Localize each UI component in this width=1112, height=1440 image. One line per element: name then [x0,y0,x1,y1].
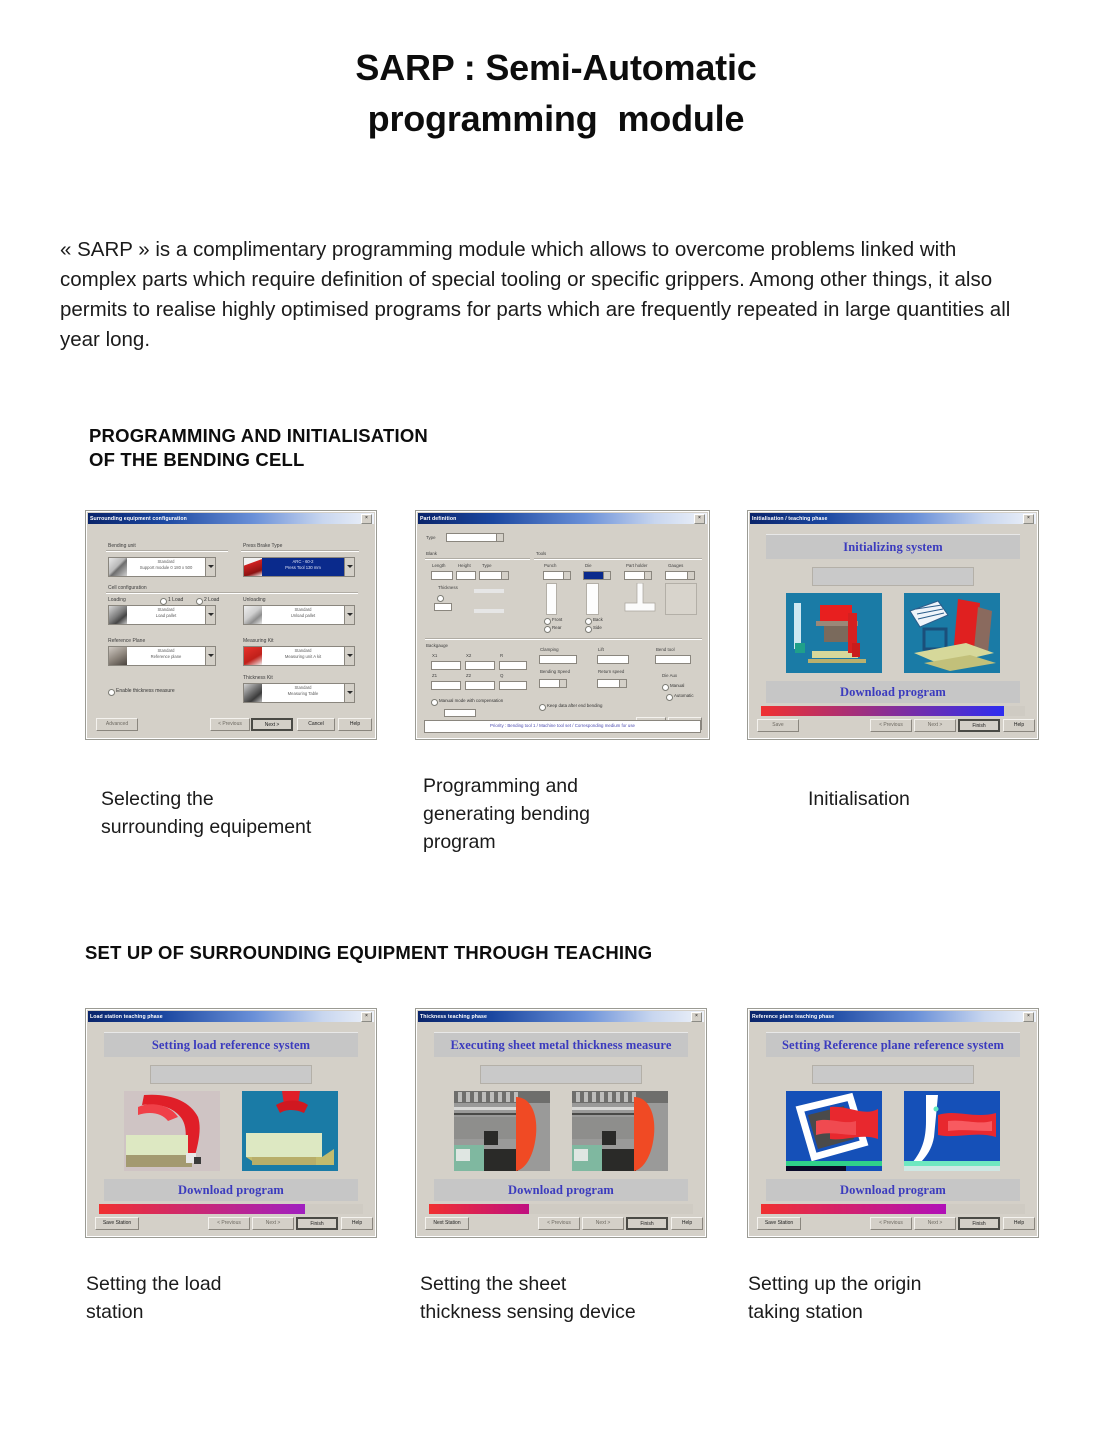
window-title: Part definition [420,516,694,522]
button-next[interactable]: Next > [914,1217,956,1230]
label-r: R [500,653,503,658]
chevron-down-icon[interactable] [344,558,354,576]
input-height[interactable] [456,571,476,580]
button-help[interactable]: Help [1003,1217,1035,1230]
dialog-button-row: Save Station < Previous Next > Finish He… [757,1217,1029,1230]
intro-paragraph: « SARP » is a complimentary programming … [60,235,1022,356]
input-return-speed[interactable] [597,679,627,688]
combo-value: ARC - 60-2 Press Tool 130 mm [262,558,344,576]
reference-plane-render-right [904,1091,1000,1171]
combo-value: Standard Load pallet [127,606,205,624]
dialog-button-row: Next Station < Previous Next > Finish He… [425,1217,697,1230]
label-type-blank: Type [482,563,492,568]
button-help[interactable]: Help [338,718,372,731]
thickness-device-photo-left [454,1091,550,1171]
close-icon[interactable]: × [691,1012,702,1022]
wizard-status-text: Download program [840,685,946,700]
label-clamping: Clamping [540,647,559,652]
combo-reference-plane[interactable]: Standard Reference plane [108,646,216,666]
group-divider [534,558,702,559]
combo-gauges[interactable] [665,571,695,580]
input-lift[interactable] [597,655,629,664]
button-cancel[interactable]: Cancel [297,718,335,731]
combo-value: Standard Reference plane [127,647,205,665]
dialog-body: Setting Reference plane reference system [750,1023,1036,1235]
progress-bar [429,1204,693,1214]
input-bend-tool[interactable] [655,655,691,664]
label-bend-tool: Bend tool [656,647,675,652]
combo-punch[interactable] [543,571,571,580]
dialog-body: Setting load reference system [88,1023,374,1235]
label-type: Type [426,535,436,540]
combo-bending-unit[interactable]: Standard Support module 0 180 x 500 [108,557,216,577]
page-title-line1: SARP : Semi-Automatic [355,47,756,88]
caption-initialisation: Initialisation [808,786,1058,814]
dimension-indicator [474,589,504,593]
button-save-station[interactable]: Save Station [95,1217,139,1230]
part-holder-profile-icon [624,583,656,613]
wizard-banner: Initializing system [766,534,1020,559]
button-help[interactable]: Help [671,1217,703,1230]
radio-manual[interactable]: Manual [662,683,684,688]
combo-measuring-kit[interactable]: Standard Measuring unit A kit [243,646,355,666]
combo-type[interactable] [446,533,504,542]
group-label-backgauge: Backgauge [426,643,448,648]
combo-thickness-kit[interactable]: Standard Measuring Table [243,683,355,703]
dialog-thickness-teaching[interactable]: Thickness teaching phase × Executing she… [415,1008,707,1238]
reference-plane-right-icon [904,1091,1000,1171]
label-z1: Z1 [432,673,437,678]
punch-profile-icon [546,583,557,615]
cell-overview-render [786,593,882,673]
button-previous[interactable]: < Previous [210,718,250,731]
dialog-button-row: Save < Previous Next > Finish Help [757,719,1029,732]
input-q[interactable] [499,681,527,690]
button-save-station[interactable]: Save Station [757,1217,801,1230]
input-x1[interactable] [431,661,461,670]
group-label-measuring-kit: Measuring Kit [243,638,274,644]
wizard-status-text: Download program [840,1183,946,1198]
group-label-die-aux: Die Aux [662,673,677,678]
window-title: Initialisation / teaching phase [752,516,1023,522]
group-label-blank: Blank [426,551,437,556]
reference-plane-left-icon [786,1091,882,1171]
checkbox-enable-thickness-measure[interactable]: Enable thickness measure [108,688,175,694]
input-thickness[interactable] [434,603,452,611]
button-help[interactable]: Help [1003,719,1035,732]
thumbnail-icon [244,647,262,665]
titlebar[interactable]: Thickness teaching phase × [418,1011,704,1022]
thumbnail-icon [109,606,127,624]
combo-value: Standard Unload pallet [262,606,344,624]
combo-value: Standard Measuring unit A kit [262,647,344,665]
wizard-message-field [150,1065,312,1084]
wizard-status-text: Download program [508,1183,614,1198]
section-heading-teaching: SET UP OF SURROUNDING EQUIPMENT THROUGH … [85,941,985,965]
chevron-down-icon[interactable] [344,684,354,702]
button-next-station[interactable]: Next Station [425,1217,469,1230]
button-previous[interactable]: < Previous [870,719,912,732]
thumbnail-icon [244,558,262,576]
radio-thickness-custom[interactable] [437,594,446,599]
chevron-down-icon[interactable] [344,647,354,665]
window-title: Thickness teaching phase [420,1014,691,1020]
button-next[interactable]: Next > [252,1217,294,1230]
group-divider [106,592,358,593]
input-length[interactable] [431,571,453,580]
page-title-line2a: programming [368,98,598,139]
input-clamping[interactable] [539,655,577,664]
combo-loading[interactable]: Standard Load pallet [108,605,216,625]
chevron-down-icon[interactable] [205,558,215,576]
dialog-reference-plane-teaching[interactable]: Reference plane teaching phase × Setting… [747,1008,1039,1238]
gauge-preview [665,583,697,615]
sheet-stack-render [904,593,1000,673]
wizard-banner: Setting load reference system [104,1032,358,1057]
wizard-status-banner: Download program [434,1179,688,1201]
titlebar[interactable]: Initialisation / teaching phase × [750,513,1036,524]
sheet-stack-render-icon [904,593,1000,673]
progress-bar [761,706,1025,716]
t-shape-icon [624,583,656,613]
label-x1: X1 [432,653,437,658]
button-previous[interactable]: < Previous [538,1217,580,1230]
radio-back[interactable]: Back [585,617,603,622]
input-z1[interactable] [431,681,461,690]
dimension-indicator [474,609,504,613]
page-title: SARP : Semi-Automatic programmingmodule [0,42,1112,144]
dialog-body: Type Blank Length Height Type Thickness … [418,525,707,737]
chevron-down-icon[interactable] [205,647,215,665]
chevron-down-icon[interactable] [205,606,215,624]
radio-automatic[interactable]: Automatic [666,693,694,698]
dialog-button-row: Save Station < Previous Next > Finish He… [95,1217,367,1230]
input-z2[interactable] [465,681,495,690]
close-icon[interactable]: × [361,514,372,524]
combo-value: Standard Support module 0 180 x 500 [127,558,205,576]
progress-bar-fill [99,1204,305,1214]
label-return-speed: Return speed [598,669,624,674]
button-next[interactable]: Next > [582,1217,624,1230]
thumbnail-icon [109,647,127,665]
checkbox-manual-compensation[interactable]: Manual mode with compensation [431,698,503,703]
titlebar[interactable]: Load station teaching phase × [88,1011,374,1022]
group-label-thickness-kit: Thickness Kit [243,675,273,681]
section-heading-programming: PROGRAMMING AND INITIALISATION OF THE BE… [89,424,689,473]
page-title-line2b: module [618,98,745,139]
close-icon[interactable]: × [694,514,705,524]
thickness-photo-left-icon [454,1091,550,1171]
button-advanced[interactable]: Advanced [96,718,138,731]
progress-bar [99,1204,363,1214]
close-icon[interactable]: × [1023,1012,1034,1022]
window-title: Surrounding equipment configuration [90,516,361,522]
button-previous[interactable]: < Previous [870,1217,912,1230]
group-label-cell-configuration: Cell configuration [108,585,147,591]
group-label-bending-unit: Bending unit [108,543,136,549]
wizard-status-banner: Download program [766,681,1020,703]
button-next[interactable]: Next > [914,719,956,732]
wizard-banner: Executing sheet metal thickness measure [434,1032,688,1057]
wizard-status-banner: Download program [104,1179,358,1201]
label-part-holder: Part holder [626,563,647,568]
input-r[interactable] [499,661,527,670]
wizard-banner-text: Executing sheet metal thickness measure [450,1038,671,1053]
status-bar: Priority : Bending tool 1 / Machine tool… [424,720,701,733]
button-previous[interactable]: < Previous [208,1217,250,1230]
thumbnail-icon [244,684,262,702]
close-icon[interactable]: × [1023,514,1034,524]
progress-bar [761,1204,1025,1214]
combo-unloading[interactable]: Standard Unload pallet [243,605,355,625]
die-profile-icon [586,583,599,615]
radio-side[interactable]: Side [585,625,602,630]
thumbnail-icon [109,558,127,576]
input-bending-speed[interactable] [539,679,567,688]
load-station-render-right [242,1091,338,1171]
button-finish[interactable]: Finish [626,1217,668,1230]
button-finish[interactable]: Finish [958,1217,1000,1230]
group-divider [241,550,359,551]
label-punch: Punch [544,563,556,568]
button-finish[interactable]: Finish [296,1217,338,1230]
combo-press-brake-type[interactable]: ARC - 60-2 Press Tool 130 mm [243,557,355,577]
label-z2: Z2 [466,673,471,678]
wizard-status-text: Download program [178,1183,284,1198]
checkbox-keep-data[interactable]: Keep data after end bending [539,703,602,708]
section1-heading-line1: PROGRAMMING AND INITIALISATION [89,425,428,446]
dialog-body: Executing sheet metal thickness measure [418,1023,704,1235]
label-x2: X2 [466,653,471,658]
wizard-banner-text: Initializing system [843,540,942,555]
wizard-banner-text: Setting load reference system [152,1038,310,1053]
wizard-banner-text: Setting Reference plane reference system [782,1038,1004,1053]
radio-two-load[interactable]: 2 Load [196,597,219,603]
group-divider [425,558,530,559]
label-bending-speed: Bending Speed [540,669,570,674]
label-gauges: Gauges [668,563,683,568]
button-save[interactable]: Save [757,719,799,732]
titlebar[interactable]: Surrounding equipment configuration × [88,513,374,524]
wizard-picture-row [766,593,1020,675]
caption-origin-station: Setting up the origin taking station [748,1271,1048,1327]
close-icon[interactable]: × [361,1012,372,1022]
progress-bar-fill [761,706,1004,716]
progress-bar-fill [429,1204,529,1214]
combo-die[interactable] [583,571,611,580]
load-station-render-left [124,1091,220,1171]
progress-bar-fill [761,1204,946,1214]
reference-plane-render-left [786,1091,882,1171]
wizard-banner: Setting Reference plane reference system [766,1032,1020,1057]
wizard-picture-row [104,1091,358,1173]
combo-blank-type[interactable] [479,571,509,580]
caption-thickness-device: Setting the sheet thickness sensing devi… [420,1271,730,1327]
group-label-loading: Loading [108,597,126,603]
button-finish[interactable]: Finish [958,719,1000,732]
wizard-status-banner: Download program [766,1179,1020,1201]
label-thickness: Thickness [438,585,458,590]
label-height: Height [458,563,471,568]
load-station-left-icon [124,1091,220,1171]
combo-part-holder[interactable] [624,571,652,580]
group-label-tools: Tools [536,551,546,556]
window-title: Load station teaching phase [90,1014,361,1020]
wizard-message-field [812,567,974,586]
group-label-unloading: Unloading [243,597,266,603]
section1-heading-line2: OF THE BENDING CELL [89,449,305,470]
label-lift: Lift [598,647,604,652]
dialog-initialisation[interactable]: Initialisation / teaching phase × Initia… [747,510,1039,740]
thickness-device-photo-right [572,1091,668,1171]
caption-selecting-equipment: Selecting the surrounding equipement [101,786,391,842]
combo-value: Standard Measuring Table [262,684,344,702]
radio-rear[interactable]: Rear [544,625,562,630]
wizard-message-field [812,1065,974,1084]
bending-cell-render-icon [786,593,882,673]
wizard-message-field [480,1065,642,1084]
chevron-down-icon[interactable] [344,606,354,624]
radio-front[interactable]: Front [544,617,562,622]
caption-load-station: Setting the load station [86,1271,386,1327]
group-divider [425,638,702,639]
titlebar[interactable]: Reference plane teaching phase × [750,1011,1036,1022]
wizard-picture-row [434,1091,688,1173]
group-label-press-brake: Press Brake Type [243,543,282,549]
thickness-photo-right-icon [572,1091,668,1171]
dialog-body: Bending unit Standard Support module 0 1… [88,525,374,737]
caption-programming: Programming and generating bending progr… [423,773,713,857]
button-next[interactable]: Next > [251,718,293,731]
input-compensation-value[interactable] [444,709,476,717]
input-x2[interactable] [465,661,495,670]
group-label-reference-plane: Reference Plane [108,638,145,644]
titlebar[interactable]: Part definition × [418,513,707,524]
label-q: Q [500,673,503,678]
group-divider [106,550,228,551]
button-help[interactable]: Help [341,1217,373,1230]
label-die: Die [585,563,592,568]
dialog-body: Initializing system [750,525,1036,737]
window-title: Reference plane teaching phase [752,1014,1023,1020]
dialog-equipment-selection[interactable]: Surrounding equipment configuration × Be… [85,510,377,740]
label-length: Length [432,563,445,568]
dialog-load-station-teaching[interactable]: Load station teaching phase × Setting lo… [85,1008,377,1238]
thumbnail-icon [244,606,262,624]
load-station-right-icon [242,1091,338,1171]
radio-one-load[interactable]: 1 Load [160,597,183,603]
wizard-picture-row [766,1091,1020,1173]
dialog-part-programming[interactable]: Part definition × Type Blank Length Heig… [415,510,710,740]
